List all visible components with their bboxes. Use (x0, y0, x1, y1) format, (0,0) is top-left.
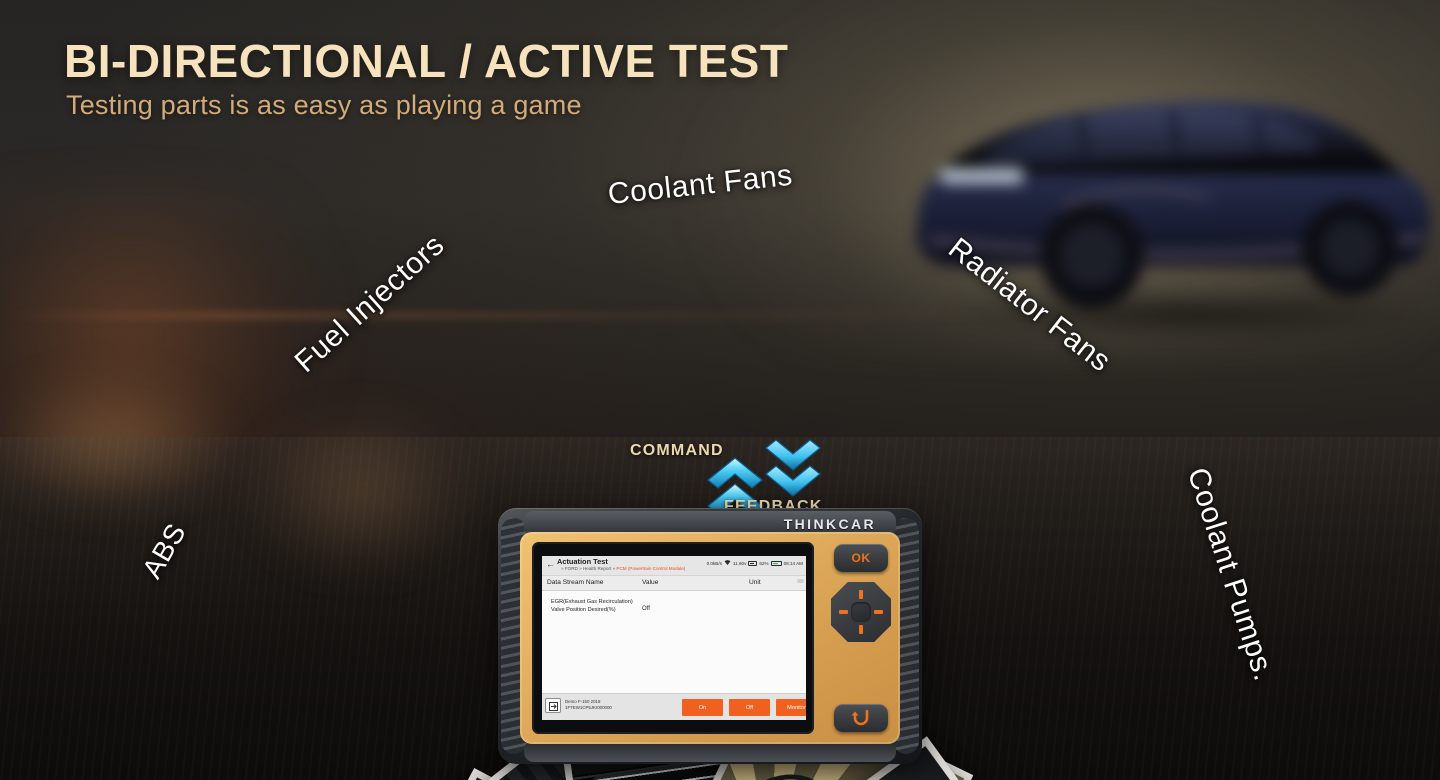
hardware-keypad: OK (830, 540, 892, 736)
off-button[interactable]: Off (729, 699, 770, 716)
screen-footer: Demo F-150 2018 1FTEW1CP5JKI000000 On Of… (542, 693, 806, 720)
data-stream-list[interactable]: EGR(Exhaust Gas Recirculation) Valve Pos… (542, 591, 806, 693)
column-header-name: Data Stream Name (547, 579, 603, 586)
device-screen[interactable]: ← Actuation Test » FORD » Health Report … (542, 556, 806, 720)
voltage: 11.60v (733, 561, 746, 566)
on-button[interactable]: On (682, 699, 723, 716)
table-header: Data Stream Name Value Unit (542, 576, 806, 591)
monitor-button[interactable]: Monitor (776, 699, 806, 716)
screen-bezel: ← Actuation Test » FORD » Health Report … (532, 542, 814, 734)
wifi-icon (724, 560, 731, 567)
feedback-down-arrows-icon (762, 436, 824, 505)
device-top-bar: THINKCAR (524, 511, 896, 533)
column-header-value: Value (642, 579, 658, 586)
column-header-unit: Unit (749, 579, 761, 586)
status-indicators: 0.0kB/s 11.60v 62% 08:14 AM (707, 560, 803, 567)
obd-icon (748, 561, 757, 566)
battery-icon (771, 561, 782, 566)
return-arrow-icon (849, 708, 873, 728)
back-button[interactable] (834, 704, 888, 732)
clock-time: 08:14 AM (784, 561, 803, 566)
breadcrumb-active: PCM (Powertrain Control Module) (616, 566, 685, 571)
scroll-indicator[interactable] (797, 579, 804, 583)
promo-banner: BI-DIRECTIONAL / ACTIVE TEST Testing par… (0, 0, 1440, 780)
breadcrumb-prefix: » FORD » Health Report » (561, 566, 616, 571)
row-data-stream-name: EGR(Exhaust Gas Recirculation) Valve Pos… (551, 598, 639, 614)
row-value: Off (642, 606, 650, 612)
dpad-left-icon[interactable] (839, 610, 848, 614)
thinkcar-scan-tool: THINKCAR ← Actuation Test » FORD » Healt… (498, 508, 922, 764)
battery-percent: 62% (759, 561, 768, 566)
data-rate: 0.0kB/s (707, 561, 722, 566)
screen-status-bar: ← Actuation Test » FORD » Health Report … (542, 556, 806, 576)
screen-title: Actuation Test (557, 557, 608, 566)
device-faceplate: ← Actuation Test » FORD » Health Report … (520, 532, 900, 744)
dpad-center[interactable] (851, 602, 871, 622)
dpad-right-icon[interactable] (874, 610, 883, 614)
dpad-down-icon[interactable] (859, 625, 863, 634)
ok-button[interactable]: OK (834, 544, 888, 572)
vehicle-vin: 1FTEW1CP5JKI000000 (565, 705, 612, 711)
brand-logo: THINKCAR (784, 516, 876, 532)
device-bottom-bar (524, 744, 896, 762)
back-arrow-icon[interactable]: ← (546, 559, 555, 569)
dpad-up-icon[interactable] (859, 590, 863, 599)
vin-scan-icon[interactable] (545, 698, 561, 713)
breadcrumb: » FORD » Health Report » PCM (Powertrain… (561, 566, 685, 571)
dpad[interactable] (831, 582, 891, 642)
vehicle-info: Demo F-150 2018 1FTEW1CP5JKI000000 (565, 699, 612, 711)
